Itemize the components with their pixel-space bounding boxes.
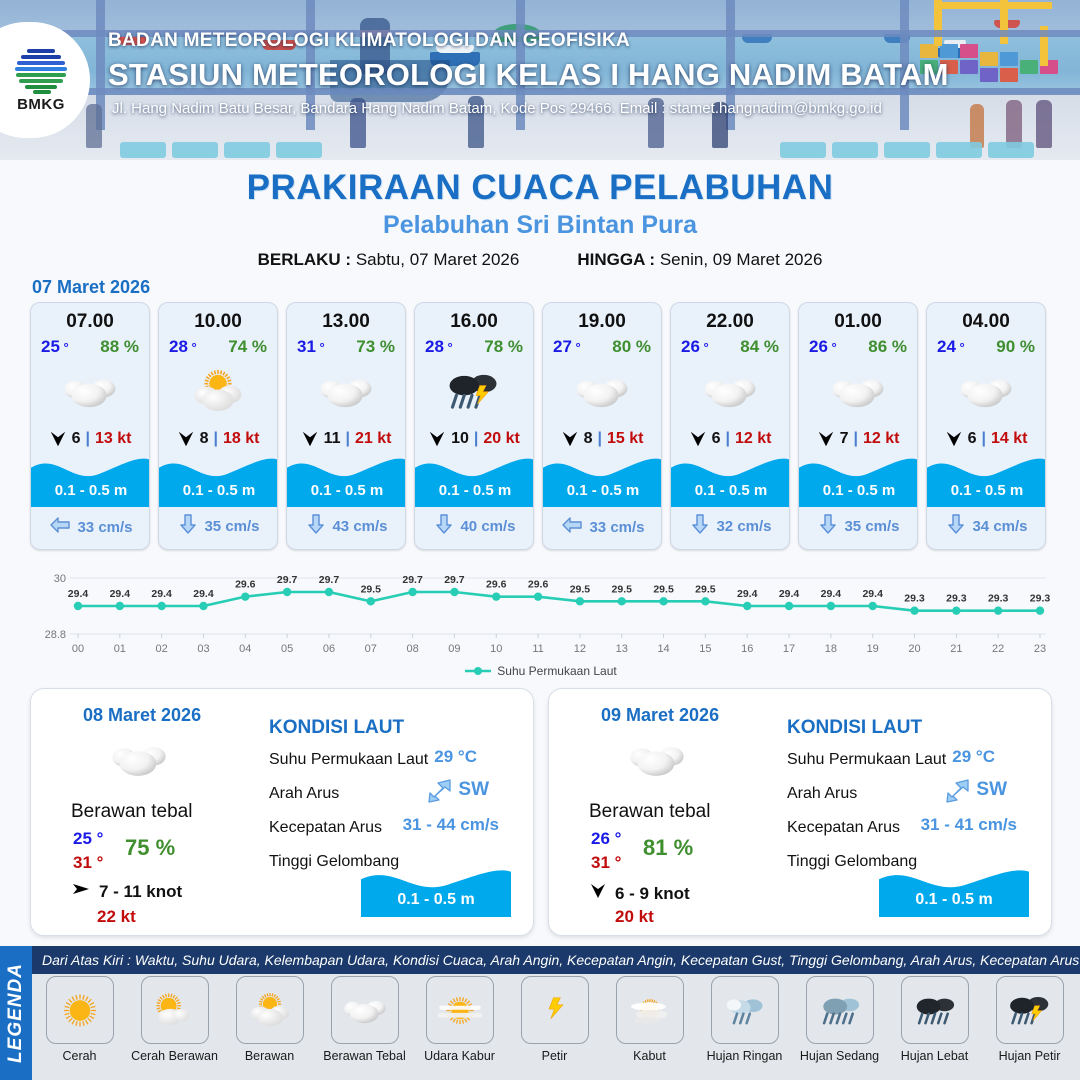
svg-text:22: 22	[992, 643, 1004, 655]
card-wave-height: 0.1 - 0.5 m	[543, 482, 662, 499]
card-wind-separator: |	[981, 430, 985, 448]
card-temperature: 27 °	[553, 337, 581, 357]
container-graphic	[960, 60, 978, 74]
current-direction-icon	[434, 513, 454, 539]
legend-item-label: Hujan Ringan	[707, 1049, 783, 1063]
seat-graphic	[276, 142, 322, 158]
card-current: 35 cm/s	[799, 513, 918, 539]
svg-text:29.4: 29.4	[862, 588, 883, 600]
panel-wave-height: 0.1 - 0.5 m	[361, 891, 511, 909]
legend-item: Hujan Sedang	[792, 976, 887, 1063]
person-graphic	[1006, 100, 1022, 148]
container-graphic	[960, 44, 978, 58]
svg-text:29.3: 29.3	[946, 593, 967, 605]
current-direction-icon	[178, 513, 198, 539]
legend-side-label: LEGENDA	[5, 963, 27, 1063]
card-weather-icon	[287, 359, 405, 423]
legend-icon-sunny	[46, 976, 114, 1044]
panel-humidity: 81 %	[643, 835, 693, 861]
card-wind-speed: 12 kt	[863, 430, 899, 448]
card-wind-speed: 12 kt	[735, 430, 771, 448]
card-wind: 6 | 13 kt	[31, 429, 149, 449]
card-temp-humidity: 28 ° 78 %	[415, 333, 533, 357]
person-graphic	[1036, 100, 1052, 148]
current-direction-icon	[306, 513, 326, 539]
panel-date: 09 Maret 2026	[601, 705, 719, 726]
card-weather-icon	[159, 359, 277, 423]
valid-from-label: BERLAKU :	[258, 250, 352, 269]
seat-graphic	[780, 142, 826, 158]
card-wind-direction-value: 6	[968, 430, 977, 448]
card-temperature: 25 °	[41, 337, 69, 357]
panel-weather-icon	[103, 737, 175, 787]
current-direction-icon	[49, 515, 71, 539]
seat-graphic	[120, 142, 166, 158]
svg-text:21: 21	[950, 643, 962, 655]
hourly-card: 19.00 27 ° 80 % 8 | 15 kt 0.1 - 0.5 m 33…	[542, 302, 662, 550]
hourly-date-label: 07 Maret 2026	[32, 277, 150, 298]
sea-row-label: Suhu Permukaan Laut	[269, 751, 428, 769]
svg-text:10: 10	[490, 643, 502, 655]
chart-legend: Suhu Permukaan Laut	[30, 664, 1052, 678]
svg-text:01: 01	[114, 643, 126, 655]
container-graphic	[980, 68, 998, 82]
station-address: Jl. Hang Nadim Batu Besar, Bandara Hang …	[112, 100, 949, 117]
card-wave-height: 0.1 - 0.5 m	[31, 482, 150, 499]
card-time: 07.00	[31, 311, 149, 333]
card-weather-icon	[543, 359, 661, 423]
hourly-card: 16.00 28 ° 78 % 10 | 20 kt 0.1 - 0.5 m 4…	[414, 302, 534, 550]
current-direction-icon	[946, 513, 966, 539]
card-humidity: 88 %	[100, 337, 139, 357]
hourly-card: 07.00 25 ° 88 % 6 | 13 kt 0.1 - 0.5 m 33…	[30, 302, 150, 550]
svg-text:29.4: 29.4	[779, 588, 800, 600]
daily-panel: 09 Maret 2026 Berawan tebal 26 ° 31 ° 81…	[548, 688, 1052, 936]
card-current: 33 cm/s	[31, 515, 150, 539]
card-time: 01.00	[799, 311, 917, 333]
card-current: 43 cm/s	[287, 513, 406, 539]
card-time: 10.00	[159, 311, 277, 333]
card-temp-humidity: 26 ° 84 %	[671, 333, 789, 357]
card-current-speed: 35 cm/s	[844, 518, 899, 535]
svg-text:29.4: 29.4	[110, 588, 131, 600]
card-humidity: 86 %	[868, 337, 907, 357]
card-wave-height: 0.1 - 0.5 m	[671, 482, 790, 499]
card-wind: 6 | 14 kt	[927, 429, 1045, 449]
card-wind-direction-value: 6	[72, 430, 81, 448]
valid-until: HINGGA : Senin, 09 Maret 2026	[577, 250, 822, 270]
panel-date: 08 Maret 2026	[83, 705, 201, 726]
legend-note: Dari Atas Kiri : Waktu, Suhu Udara, Kele…	[32, 946, 1080, 974]
card-weather-icon	[799, 359, 917, 423]
agency-name: BADAN METEOROLOGI KLIMATOLOGI DAN GEOFIS…	[108, 30, 949, 52]
legend-section: LEGENDA Dari Atas Kiri : Waktu, Suhu Uda…	[0, 946, 1080, 1080]
panel-condition: Berawan tebal	[589, 801, 710, 823]
current-direction-arrow-icon	[944, 777, 972, 803]
card-temperature: 26 °	[681, 337, 709, 357]
crane-graphic	[1000, 0, 1008, 44]
panel-wind-direction-icon	[589, 881, 607, 906]
card-humidity: 80 %	[612, 337, 651, 357]
sst-chart-canvas: 3028.829.40029.40129.40229.40329.60429.7…	[30, 562, 1052, 662]
svg-text:29.5: 29.5	[653, 583, 674, 595]
svg-text:29.4: 29.4	[151, 588, 172, 600]
legend-icon-sunny-cloudy	[141, 976, 209, 1044]
sea-row-label: Kecepatan Arus	[787, 819, 900, 837]
valid-until-value: Senin, 09 Maret 2026	[660, 250, 823, 269]
svg-text:29.7: 29.7	[444, 574, 465, 586]
svg-text:30: 30	[54, 573, 66, 585]
hourly-card: 22.00 26 ° 84 % 6 | 12 kt 0.1 - 0.5 m 32…	[670, 302, 790, 550]
page-subtitle: Pelabuhan Sri Bintan Pura	[0, 211, 1080, 240]
card-time: 04.00	[927, 311, 1045, 333]
sea-current-direction: SW	[944, 777, 1007, 803]
card-current-speed: 33 cm/s	[77, 519, 132, 536]
card-wind-direction-value: 8	[584, 430, 593, 448]
seat-graphic	[172, 142, 218, 158]
legend-item: Hujan Lebat	[887, 976, 982, 1063]
svg-text:13: 13	[616, 643, 628, 655]
sea-current-direction: SW	[426, 777, 489, 803]
hourly-card: 10.00 28 ° 74 % 8 | 18 kt 0.1 - 0.5 m 35…	[158, 302, 278, 550]
svg-text:19: 19	[867, 643, 879, 655]
card-wind: 8 | 15 kt	[543, 429, 661, 449]
container-graphic	[1000, 52, 1018, 66]
wind-direction-icon	[428, 429, 446, 449]
sea-current-speed-value: 31 - 41 cm/s	[921, 815, 1017, 835]
panel-temp-max: 31 °	[73, 853, 103, 873]
card-weather-icon	[31, 359, 149, 423]
card-wind-direction-value: 8	[200, 430, 209, 448]
card-temperature: 28 °	[425, 337, 453, 357]
legend-icon-fog	[616, 976, 684, 1044]
legend-item: Cerah Berawan	[127, 976, 222, 1063]
card-wind-speed: 14 kt	[991, 430, 1027, 448]
svg-text:29.3: 29.3	[904, 593, 925, 605]
legend-item-label: Kabut	[633, 1049, 666, 1063]
legend-side-bar: LEGENDA	[0, 946, 32, 1080]
hourly-card: 04.00 24 ° 90 % 6 | 14 kt 0.1 - 0.5 m 34…	[926, 302, 1046, 550]
svg-text:16: 16	[741, 643, 753, 655]
card-humidity: 73 %	[356, 337, 395, 357]
panel-condition: Berawan tebal	[71, 801, 192, 823]
legend-item-label: Hujan Sedang	[800, 1049, 879, 1063]
svg-text:29.4: 29.4	[193, 588, 214, 600]
legend-item-label: Cerah Berawan	[131, 1049, 218, 1063]
card-current: 32 cm/s	[671, 513, 790, 539]
card-wind-direction-value: 7	[840, 430, 849, 448]
panel-wind-range: 7 - 11 knot	[99, 882, 182, 902]
card-humidity: 78 %	[484, 337, 523, 357]
card-wave-height: 0.1 - 0.5 m	[159, 482, 278, 499]
card-current-speed: 43 cm/s	[332, 518, 387, 535]
card-wind-separator: |	[853, 430, 857, 448]
bmkg-logo-text: BMKG	[17, 96, 65, 113]
svg-text:29.4: 29.4	[821, 588, 842, 600]
card-wind: 10 | 20 kt	[415, 429, 533, 449]
valid-from: BERLAKU : Sabtu, 07 Maret 2026	[258, 250, 520, 270]
card-wind: 11 | 21 kt	[287, 429, 405, 449]
svg-text:18: 18	[825, 643, 837, 655]
card-wave-height: 0.1 - 0.5 m	[799, 482, 918, 499]
page-title: PRAKIRAAN CUACA PELABUHAN	[0, 168, 1080, 208]
svg-text:15: 15	[699, 643, 711, 655]
svg-text:07: 07	[365, 643, 377, 655]
svg-text:17: 17	[783, 643, 795, 655]
hourly-card: 01.00 26 ° 86 % 7 | 12 kt 0.1 - 0.5 m 35…	[798, 302, 918, 550]
wind-direction-icon	[817, 429, 835, 449]
panel-temp-min: 25 °	[73, 829, 103, 849]
card-temperature: 31 °	[297, 337, 325, 357]
legend-item-label: Cerah	[62, 1049, 96, 1063]
current-direction-icon	[690, 513, 710, 539]
svg-text:14: 14	[657, 643, 669, 655]
card-weather-icon	[927, 359, 1045, 423]
card-wind: 6 | 12 kt	[671, 429, 789, 449]
card-weather-icon	[415, 359, 533, 423]
svg-text:29.7: 29.7	[319, 574, 340, 586]
panel-humidity: 75 %	[125, 835, 175, 861]
card-wind-separator: |	[213, 430, 217, 448]
svg-text:29.7: 29.7	[277, 574, 298, 586]
panel-weather-icon	[621, 737, 693, 787]
person-graphic	[86, 104, 102, 148]
card-wind-direction-value: 6	[712, 430, 721, 448]
card-temp-humidity: 27 ° 80 %	[543, 333, 661, 357]
svg-text:28.8: 28.8	[45, 629, 66, 641]
legend-icon-heavy-rain	[901, 976, 969, 1044]
daily-forecast-panels: 08 Maret 2026 Berawan tebal 25 ° 31 ° 75…	[30, 688, 1052, 936]
panel-wind-range: 6 - 9 knot	[615, 884, 690, 904]
card-wind-direction-value: 11	[324, 430, 341, 448]
current-direction-icon	[818, 513, 838, 539]
card-wind-separator: |	[474, 430, 478, 448]
svg-text:09: 09	[448, 643, 460, 655]
legend-item-label: Petir	[542, 1049, 568, 1063]
svg-text:29.7: 29.7	[402, 574, 423, 586]
wind-direction-icon	[689, 429, 707, 449]
card-wind: 7 | 12 kt	[799, 429, 917, 449]
legend-icon-moderate-rain	[806, 976, 874, 1044]
svg-text:29.6: 29.6	[486, 579, 507, 591]
legend-items-row: Cerah Cerah Berawan Berawan Berawan Teba…	[32, 976, 1080, 1063]
card-time: 22.00	[671, 311, 789, 333]
card-time: 19.00	[543, 311, 661, 333]
validity-range: BERLAKU : Sabtu, 07 Maret 2026 HINGGA : …	[0, 250, 1080, 270]
legend-item: Berawan Tebal	[317, 976, 412, 1063]
card-time: 16.00	[415, 311, 533, 333]
wind-direction-icon	[301, 429, 319, 449]
card-current: 40 cm/s	[415, 513, 534, 539]
card-temp-humidity: 24 ° 90 %	[927, 333, 1045, 357]
panel-wind: 6 - 9 knot	[589, 881, 690, 906]
station-name: STASIUN METEOROLOGI KELAS I HANG NADIM B…	[108, 57, 949, 93]
svg-text:29.3: 29.3	[1030, 593, 1051, 605]
svg-text:29.5: 29.5	[570, 583, 591, 595]
card-wind-speed: 20 kt	[483, 430, 519, 448]
card-temp-humidity: 28 ° 74 %	[159, 333, 277, 357]
current-direction-icon	[561, 515, 583, 539]
card-wind-separator: |	[597, 430, 601, 448]
card-humidity: 90 %	[996, 337, 1035, 357]
card-wind-separator: |	[85, 430, 89, 448]
container-graphic	[1000, 68, 1018, 82]
card-wind-separator: |	[725, 430, 729, 448]
wind-direction-icon	[561, 429, 579, 449]
legend-icon-haze	[426, 976, 494, 1044]
legend-icon-cloudy	[331, 976, 399, 1044]
svg-text:20: 20	[908, 643, 920, 655]
svg-text:29.5: 29.5	[612, 583, 633, 595]
card-current-speed: 32 cm/s	[716, 518, 771, 535]
page-header: BMKG BADAN METEOROLOGI KLIMATOLOGI DAN G…	[0, 0, 1080, 160]
wind-direction-icon	[177, 429, 195, 449]
card-current-speed: 40 cm/s	[460, 518, 515, 535]
svg-text:23: 23	[1034, 643, 1046, 655]
svg-text:08: 08	[406, 643, 418, 655]
svg-text:29.4: 29.4	[68, 588, 89, 600]
title-block: PRAKIRAAN CUACA PELABUHAN Pelabuhan Sri …	[0, 168, 1080, 270]
card-temperature: 28 °	[169, 337, 197, 357]
card-wave-height: 0.1 - 0.5 m	[287, 482, 406, 499]
card-temperature: 24 °	[937, 337, 965, 357]
svg-text:05: 05	[281, 643, 293, 655]
legend-item-label: Berawan Tebal	[323, 1049, 405, 1063]
legend-item: Hujan Petir	[982, 976, 1077, 1063]
legend-item: Udara Kabur	[412, 976, 507, 1063]
panel-gust: 20 kt	[615, 907, 654, 927]
legend-item: Cerah	[32, 976, 127, 1063]
legend-item: Petir	[507, 976, 602, 1063]
svg-text:29.6: 29.6	[235, 579, 256, 591]
legend-icon-light-rain	[711, 976, 779, 1044]
card-wave-height: 0.1 - 0.5 m	[415, 482, 534, 499]
panel-wave-height: 0.1 - 0.5 m	[879, 891, 1029, 909]
sea-row-label: Kecepatan Arus	[269, 819, 382, 837]
sea-conditions-title: KONDISI LAUT	[787, 717, 922, 739]
seat-graphic	[884, 142, 930, 158]
panel-temp-max: 31 °	[591, 853, 621, 873]
sst-chart: 3028.829.40029.40129.40229.40329.60429.7…	[30, 562, 1052, 682]
svg-text:03: 03	[197, 643, 209, 655]
card-temperature: 26 °	[809, 337, 837, 357]
legend-item: Hujan Ringan	[697, 976, 792, 1063]
sea-row-label: Arah Arus	[269, 785, 339, 803]
seat-graphic	[832, 142, 878, 158]
legend-item: Kabut	[602, 976, 697, 1063]
wind-direction-icon	[49, 429, 67, 449]
svg-text:04: 04	[239, 643, 251, 655]
panel-gust: 22 kt	[97, 907, 136, 927]
wind-direction-icon	[945, 429, 963, 449]
card-wave-height: 0.1 - 0.5 m	[927, 482, 1046, 499]
header-text-block: BADAN METEOROLOGI KLIMATOLOGI DAN GEOFIS…	[108, 30, 949, 117]
sea-row-label: Arah Arus	[787, 785, 857, 803]
legend-item-label: Hujan Lebat	[901, 1049, 968, 1063]
panel-wind-direction-icon	[71, 881, 91, 902]
legend-item-label: Hujan Petir	[999, 1049, 1061, 1063]
card-current: 33 cm/s	[543, 515, 662, 539]
legend-item-label: Udara Kabur	[424, 1049, 495, 1063]
svg-text:00: 00	[72, 643, 84, 655]
legend-item: Berawan	[222, 976, 317, 1063]
card-current-speed: 35 cm/s	[204, 518, 259, 535]
chart-legend-marker	[465, 666, 491, 676]
current-direction-arrow-icon	[426, 777, 454, 803]
card-humidity: 84 %	[740, 337, 779, 357]
sea-sst-value: 29 °C	[434, 747, 477, 767]
sea-sst-value: 29 °C	[952, 747, 995, 767]
card-current-speed: 33 cm/s	[589, 519, 644, 536]
svg-text:06: 06	[323, 643, 335, 655]
legend-icon-partly-cloudy	[236, 976, 304, 1044]
valid-until-label: HINGGA :	[577, 250, 655, 269]
hourly-forecast-row: 07.00 25 ° 88 % 6 | 13 kt 0.1 - 0.5 m 33…	[30, 302, 1052, 550]
container-graphic	[1020, 60, 1038, 74]
legend-icon-lightning	[521, 976, 589, 1044]
card-wind-speed: 21 kt	[355, 430, 391, 448]
daily-panel: 08 Maret 2026 Berawan tebal 25 ° 31 ° 75…	[30, 688, 534, 936]
card-wind: 8 | 18 kt	[159, 429, 277, 449]
svg-text:29.6: 29.6	[528, 579, 549, 591]
legend-icon-thunderstorm	[996, 976, 1064, 1044]
panel-temp-min: 26 °	[591, 829, 621, 849]
seat-graphic	[988, 142, 1034, 158]
valid-from-value: Sabtu, 07 Maret 2026	[356, 250, 520, 269]
card-temp-humidity: 31 ° 73 %	[287, 333, 405, 357]
sea-row-label: Suhu Permukaan Laut	[787, 751, 946, 769]
svg-text:29.5: 29.5	[695, 583, 716, 595]
crane-graphic	[934, 2, 1052, 9]
seat-graphic	[936, 142, 982, 158]
chart-legend-label: Suhu Permukaan Laut	[497, 664, 616, 678]
card-weather-icon	[671, 359, 789, 423]
card-temp-humidity: 26 ° 86 %	[799, 333, 917, 357]
card-wind-direction-value: 10	[451, 430, 469, 448]
svg-text:29.5: 29.5	[361, 583, 382, 595]
card-temp-humidity: 25 ° 88 %	[31, 333, 149, 357]
sea-current-direction-value: SW	[976, 779, 1007, 801]
card-humidity: 74 %	[228, 337, 267, 357]
card-time: 13.00	[287, 311, 405, 333]
svg-text:29.4: 29.4	[737, 588, 758, 600]
svg-text:12: 12	[574, 643, 586, 655]
card-wind-speed: 15 kt	[607, 430, 643, 448]
card-wind-speed: 13 kt	[95, 430, 131, 448]
card-wind-speed: 18 kt	[223, 430, 259, 448]
bmkg-logo-icon	[15, 47, 67, 94]
hourly-card: 13.00 31 ° 73 % 11 | 21 kt 0.1 - 0.5 m 4…	[286, 302, 406, 550]
card-current: 35 cm/s	[159, 513, 278, 539]
sea-current-direction-value: SW	[458, 779, 489, 801]
panel-wind: 7 - 11 knot	[71, 881, 182, 902]
card-current-speed: 34 cm/s	[972, 518, 1027, 535]
legend-item-label: Berawan	[245, 1049, 294, 1063]
sea-conditions-title: KONDISI LAUT	[269, 717, 404, 739]
container-graphic	[980, 52, 998, 66]
svg-text:02: 02	[156, 643, 168, 655]
card-wind-separator: |	[345, 430, 349, 448]
svg-text:29.3: 29.3	[988, 593, 1009, 605]
card-current: 34 cm/s	[927, 513, 1046, 539]
sea-current-speed-value: 31 - 44 cm/s	[403, 815, 499, 835]
seat-graphic	[224, 142, 270, 158]
svg-text:11: 11	[532, 643, 543, 655]
